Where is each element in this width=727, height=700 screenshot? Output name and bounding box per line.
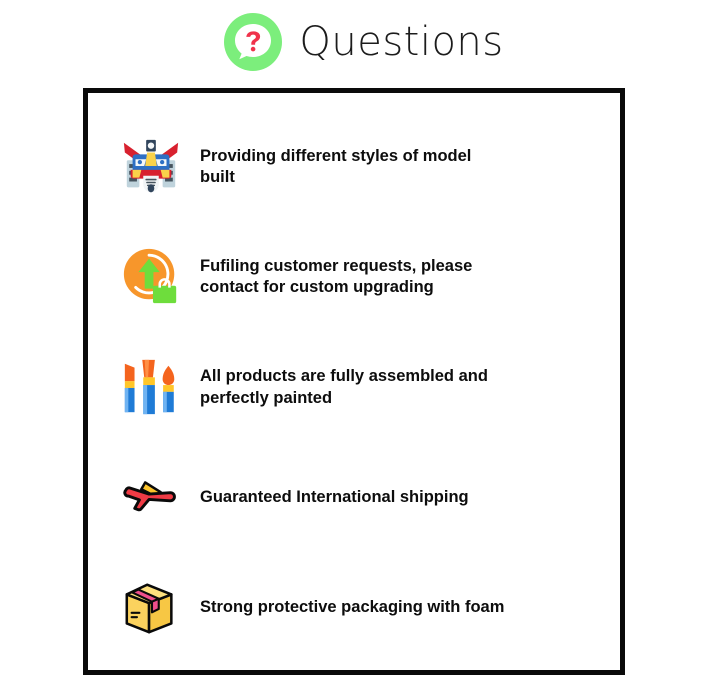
upgrade-shopping-bag-icon [120,245,182,307]
list-item-icon-wrap [118,552,198,662]
list-item: Providing different styles of model buil… [118,111,608,221]
list-item-text: Guaranteed International shipping [198,485,498,508]
questions-panel: Providing different styles of model buil… [83,88,625,675]
list-item-icon-wrap [118,331,198,441]
airplane-icon [120,466,182,528]
list-item: All products are fully assembled and per… [118,331,608,441]
list-item-text: Providing different styles of model buil… [198,144,498,188]
list-item-text: Strong protective packaging with foam [198,595,528,618]
list-item: Fufiling customer requests, please conta… [118,221,608,331]
list-item-icon-wrap [118,111,198,221]
paint-brushes-icon [120,356,182,418]
cardboard-box-icon [120,576,182,638]
page-title: Questions [299,22,503,62]
list-item-text: Fufiling customer requests, please conta… [198,254,498,298]
list-item-icon-wrap [118,221,198,331]
questions-list: Providing different styles of model buil… [118,111,608,662]
gundam-robot-head-icon [120,135,182,197]
page-header: Questions [0,8,727,76]
list-item: Guaranteed International shipping [118,442,608,552]
list-item-icon-wrap [118,442,198,552]
list-item-text: All products are fully assembled and per… [198,364,498,408]
question-mark-speech-bubble-icon [223,12,283,72]
list-item: Strong protective packaging with foam [118,552,608,662]
questions-page: Questions [0,0,727,700]
